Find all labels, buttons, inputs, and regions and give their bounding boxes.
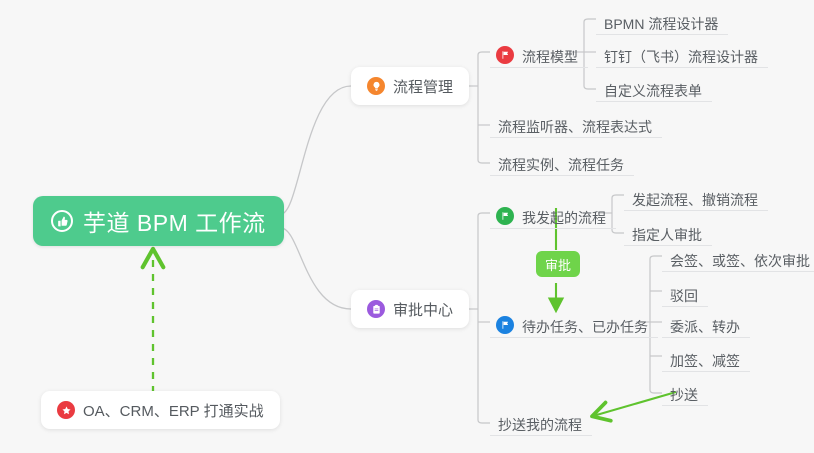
badge-label: 审批 [545,255,571,274]
lightbulb-icon [367,77,385,95]
node-dingtalk-feishu-designer[interactable]: 钉钉（飞书）流程设计器 [596,38,768,68]
node-label: 委派、转办 [670,320,740,334]
callout-label: OA、CRM、ERP 打通实战 [83,400,264,421]
node-cc-to-me-process[interactable]: 抄送我的流程 [490,406,592,436]
node-my-started-process[interactable]: 我发起的流程 [490,199,616,229]
node-reject[interactable]: 驳回 [662,277,708,307]
branch-process-management[interactable]: 流程管理 [351,67,469,105]
node-label: 流程实例、流程任务 [498,158,624,172]
node-custom-process-form[interactable]: 自定义流程表单 [596,72,712,102]
node-process-model[interactable]: 流程模型 [490,38,588,68]
node-process-listener-expression[interactable]: 流程监听器、流程表达式 [490,108,662,138]
thumbs-up-icon [51,210,73,232]
node-delegate-transfer[interactable]: 委派、转办 [662,308,750,338]
root-node[interactable]: 芋道 BPM 工作流 [33,196,284,246]
node-countersign[interactable]: 会签、或签、依次审批 [662,242,814,272]
star-icon [57,401,75,419]
node-label: 发起流程、撤销流程 [632,193,758,207]
node-label: 流程监听器、流程表达式 [498,120,652,134]
node-label: 钉钉（飞书）流程设计器 [604,50,758,64]
node-label: 驳回 [670,289,698,303]
node-label: 抄送 [670,388,698,402]
node-label: 会签、或签、依次审批 [670,254,810,268]
callout-integration[interactable]: OA、CRM、ERP 打通实战 [41,391,280,429]
flag-icon [496,316,514,334]
node-label: 待办任务、已办任务 [522,320,648,334]
node-start-cancel-process[interactable]: 发起流程、撤销流程 [624,181,768,211]
node-add-remove-sign[interactable]: 加签、减签 [662,342,750,372]
node-process-instance-task[interactable]: 流程实例、流程任务 [490,146,634,176]
node-label: 自定义流程表单 [604,84,702,98]
node-label: 加签、减签 [670,354,740,368]
branch-label: 流程管理 [393,76,453,97]
node-bpmn-designer[interactable]: BPMN 流程设计器 [596,5,728,35]
node-carbon-copy[interactable]: 抄送 [662,376,708,406]
node-label: 流程模型 [522,50,578,64]
node-label: 指定人审批 [632,228,702,242]
node-label: BPMN 流程设计器 [604,17,718,31]
flag-icon [496,207,514,225]
root-label: 芋道 BPM 工作流 [83,204,266,238]
node-todo-done-task[interactable]: 待办任务、已办任务 [490,308,658,338]
flag-icon [496,46,514,64]
approval-badge[interactable]: 审批 [536,251,580,277]
clipboard-icon [367,300,385,318]
branch-label: 审批中心 [393,299,453,320]
branch-approval-center[interactable]: 审批中心 [351,290,469,328]
mindmap-canvas: 芋道 BPM 工作流 流程管理 流程模型 BPMN 流程设计器 钉钉（飞书）流程… [0,0,814,453]
node-label: 我发起的流程 [522,211,606,225]
node-label: 抄送我的流程 [498,418,582,432]
